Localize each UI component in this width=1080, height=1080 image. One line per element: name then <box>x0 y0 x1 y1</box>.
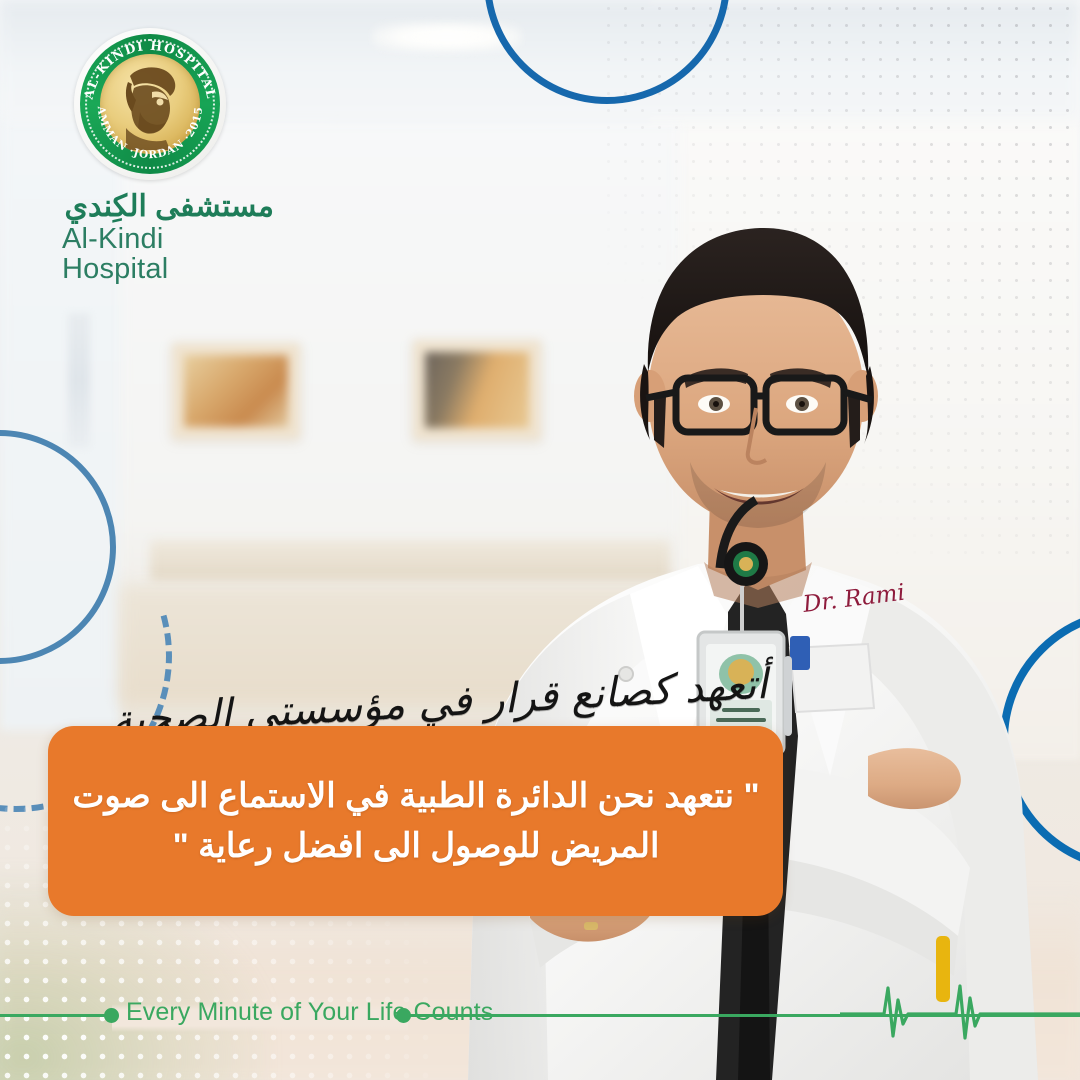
quote-line-1: " نتعهد نحن الدائرة الطبية في الاستماع ا… <box>60 771 772 821</box>
ceiling-lamp <box>372 22 522 52</box>
brand-name-arabic: مستشفى الكِندي <box>62 190 274 223</box>
footer-tagline-bar: Every Minute of Your Life Counts <box>0 1000 1080 1032</box>
footer-tagline-text: Every Minute of Your Life Counts <box>126 998 493 1027</box>
svg-text:AL-KINDI HOSPITAL: AL-KINDI HOSPITAL <box>80 38 219 102</box>
brand-logo[interactable]: AL-KINDI HOSPITAL ·AMMAN ·JORDAN ·2015· … <box>62 28 312 285</box>
footer-dot-left <box>104 1008 119 1023</box>
seal-ring-text: AL-KINDI HOSPITAL ·AMMAN ·JORDAN ·2015· <box>74 28 226 180</box>
brand-name-english: Al-Kindi Hospital <box>62 224 274 285</box>
wall-picture-frame-1 <box>172 343 300 439</box>
ecg-heartbeat-icon <box>840 978 1080 1058</box>
doctor-portrait: Dr. Rami <box>398 96 1058 1080</box>
hospital-seal-icon: AL-KINDI HOSPITAL ·AMMAN ·JORDAN ·2015· <box>74 28 226 180</box>
poster-canvas: Dr. Rami <box>0 0 1080 1080</box>
quote-line-2: المريض للوصول الى افضل رعاية " <box>60 821 772 871</box>
wall-sconce <box>68 313 90 448</box>
quote-text: " نتعهد نحن الدائرة الطبية في الاستماع ا… <box>60 771 772 872</box>
